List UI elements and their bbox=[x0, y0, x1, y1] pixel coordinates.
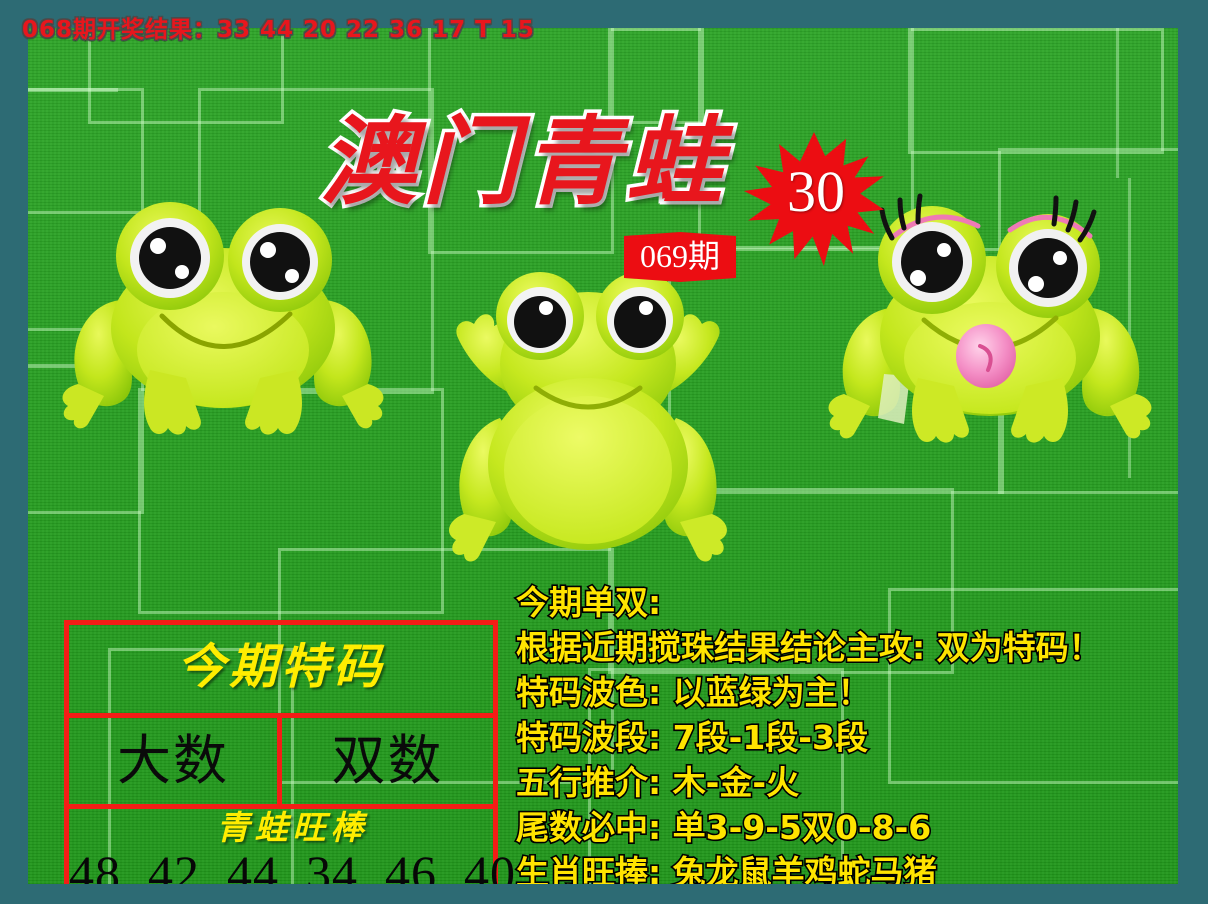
prediction-info-block: 今期单双: 根据近期搅珠结果结论主攻: 双为特码！ 特码波色: 以蓝绿为主！ 特… bbox=[516, 580, 1102, 884]
page-title: 澳门青蛙 bbox=[320, 114, 728, 210]
info-line-conclusion: 根据近期搅珠结果结论主攻: 双为特码！ bbox=[516, 625, 1102, 670]
page-title-text: 澳门青蛙 bbox=[320, 106, 728, 218]
table-row: 青蛙旺棒 48. 42. 44. 34. 46. 40 bbox=[69, 809, 493, 884]
bg-line bbox=[1116, 28, 1119, 178]
hot-numbers-cell: 青蛙旺棒 48. 42. 44. 34. 46. 40 bbox=[69, 809, 516, 884]
bg-line bbox=[28, 88, 118, 92]
bg-block bbox=[908, 28, 1164, 154]
table-heading-cell: 今期特码 bbox=[69, 625, 493, 713]
table-cell-even-text: 双数 bbox=[332, 734, 444, 788]
poster-root: 澳门青蛙 30 069期 今期特码 大数 双数 青蛙旺棒 bbox=[0, 0, 1208, 904]
poster-panel: 澳门青蛙 30 069期 今期特码 大数 双数 青蛙旺棒 bbox=[28, 28, 1178, 884]
table-heading-text: 今期特码 bbox=[177, 625, 385, 709]
info-line-wave-band: 特码波段: 7段-1段-3段 bbox=[516, 715, 1102, 760]
table-cell-big: 大数 bbox=[69, 718, 282, 804]
hot-numbers-values: 48. 42. 44. 34. 46. 40 bbox=[69, 848, 516, 884]
starburst-number: 30 bbox=[768, 163, 864, 221]
table-cell-big-text: 大数 bbox=[117, 734, 229, 788]
info-line-odd-even: 今期单双: bbox=[516, 580, 1102, 625]
info-line-zodiac: 生肖旺捧: 兔龙鼠羊鸡蛇马猪 bbox=[516, 850, 1102, 884]
hot-numbers-label: 青蛙旺棒 bbox=[217, 811, 369, 844]
table-row: 大数 双数 bbox=[69, 713, 493, 809]
info-line-tail-numbers: 尾数必中: 单3-9-5双0-8-6 bbox=[516, 805, 1102, 850]
info-line-wave-color: 特码波色: 以蓝绿为主！ bbox=[516, 670, 1102, 715]
info-line-five-elements: 五行推介: 木-金-火 bbox=[516, 760, 1102, 805]
issue-ribbon-label: 069期 bbox=[624, 240, 736, 274]
previous-draw-result: 068期开奖结果：33 44 20 22 36 17 T 15 bbox=[22, 10, 535, 44]
frog-left bbox=[58, 188, 388, 448]
special-code-table: 今期特码 大数 双数 青蛙旺棒 48. 42. 44. 34. 46. 40 bbox=[64, 620, 498, 884]
frog-center bbox=[424, 268, 754, 568]
table-cell-even: 双数 bbox=[282, 718, 493, 804]
table-row: 今期特码 bbox=[69, 625, 493, 713]
